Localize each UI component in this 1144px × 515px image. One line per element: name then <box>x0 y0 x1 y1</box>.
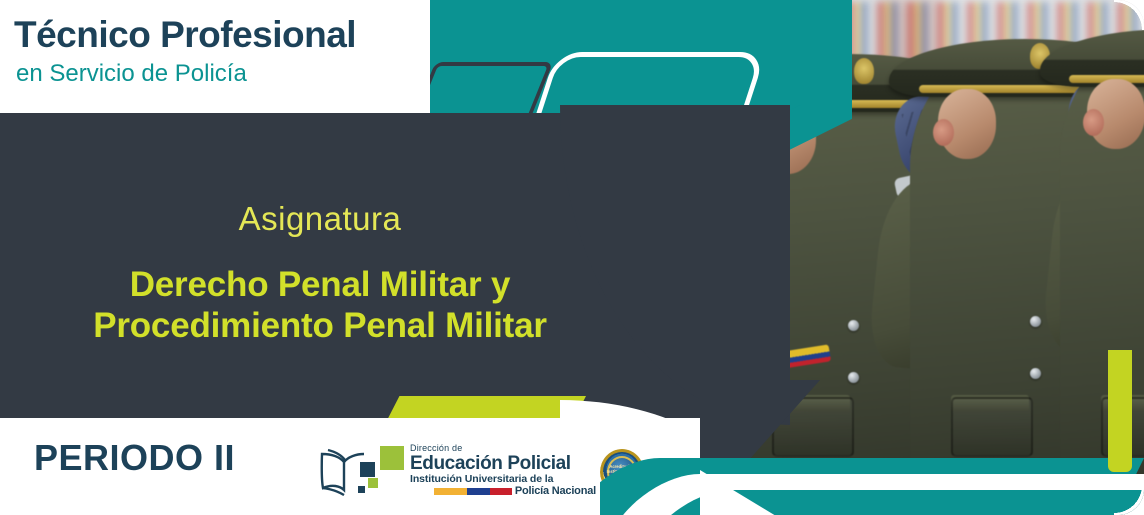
logo-square-navy-small <box>358 486 365 493</box>
colombia-tricolor-bar <box>434 488 512 495</box>
course-name: Derecho Penal Militar y Procedimiento Pe… <box>0 265 640 346</box>
logo-square-lime <box>380 446 404 470</box>
course-banner: Técnico Profesional en Servicio de Polic… <box>0 0 1144 515</box>
program-title: Técnico Profesional <box>14 16 356 53</box>
period-label: PERIODO II <box>34 440 235 476</box>
course-label: Asignatura <box>0 200 640 238</box>
header-panel: Técnico Profesional en Servicio de Polic… <box>0 0 430 113</box>
teal-bottom-band <box>600 440 1144 515</box>
course-name-line1: Derecho Penal Militar y <box>0 265 640 306</box>
program-subtitle: en Servicio de Policía <box>16 62 247 86</box>
logo-wordmark: Dirección de Educación Policial Instituc… <box>410 444 596 497</box>
course-name-line2: Procedimiento Penal Militar <box>0 306 640 347</box>
institution-logo: Dirección de Educación Policial Instituc… <box>318 444 630 500</box>
logo-line-2: Educación Policial <box>410 454 596 473</box>
logo-line-4: Policía Nacional <box>515 486 596 497</box>
lime-vertical-bar <box>1108 350 1132 472</box>
logo-square-lime-small <box>368 478 378 488</box>
logo-square-navy <box>360 462 375 477</box>
logo-line-3: Institución Universitaria de la <box>410 473 596 485</box>
